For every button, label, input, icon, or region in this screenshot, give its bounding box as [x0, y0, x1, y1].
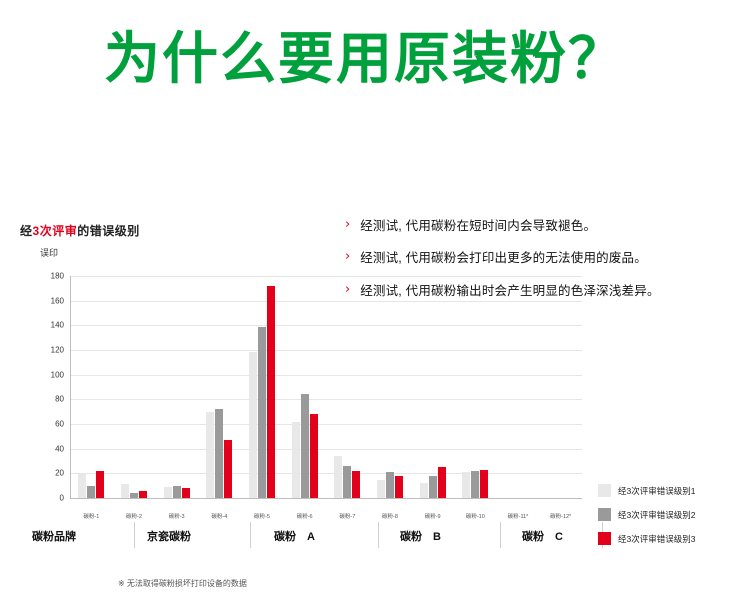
x-tick-label: 碳粉-1 [70, 512, 113, 520]
legend-item: 经3次评审错误级别3 [598, 532, 748, 545]
bar [249, 352, 257, 498]
chart-title-post: 的错误级别 [77, 224, 140, 238]
bullet-list: ›经测试, 代用碳粉在短时间内会导致褪色。›经测试, 代用碳粉会打印出更多的无法… [345, 218, 745, 315]
brand-separator [378, 522, 379, 548]
bar [480, 470, 488, 498]
brand-label: 碳粉 C [522, 528, 563, 544]
bar [87, 486, 95, 498]
bar [301, 394, 309, 498]
bar [139, 491, 147, 498]
bar [258, 327, 266, 498]
bullet-item: ›经测试, 代用碳粉会打印出更多的无法使用的废品。 [345, 250, 745, 266]
y-tick-label: 0 [60, 494, 64, 503]
brand-separator [250, 522, 251, 548]
bar [386, 472, 394, 498]
bullet-item: ›经测试, 代用碳粉在短时间内会导致褪色。 [345, 218, 745, 234]
y-tick-label: 120 [51, 346, 64, 355]
bar [173, 486, 181, 498]
y-tick-label: 40 [55, 444, 64, 453]
chart-title-accent: 3次评审 [33, 224, 78, 238]
bar-group: 碳粉-4 [198, 276, 241, 498]
bar [182, 488, 190, 498]
brand-label: 碳粉品牌 [32, 528, 76, 544]
x-tick-label: 碳粉-8 [369, 512, 412, 520]
chevron-right-icon: › [345, 218, 350, 231]
bar-group: 碳粉-1 [70, 276, 113, 498]
bar [78, 473, 86, 498]
x-tick-label: 碳粉-4 [198, 512, 241, 520]
brand-label: 碳粉 A [274, 528, 315, 544]
chart-legend: 经3次评审错误级别1经3次评审错误级别2经3次评审错误级别3 [598, 484, 748, 556]
bar [377, 480, 385, 499]
bar [395, 476, 403, 498]
chevron-right-icon: › [345, 283, 350, 296]
legend-label: 经3次评审错误级别3 [618, 533, 695, 545]
chart-title-pre: 经 [20, 224, 33, 238]
y-axis-label: 误印 [40, 246, 58, 259]
x-tick-label: 碳粉-7 [326, 512, 369, 520]
y-tick-label: 100 [51, 370, 64, 379]
brand-separator [500, 522, 501, 548]
legend-label: 经3次评审错误级别1 [618, 485, 695, 497]
bar [121, 484, 129, 498]
bullet-text: 经测试, 代用碳粉在短时间内会导致褪色。 [360, 218, 596, 234]
legend-label: 经3次评审错误级别2 [618, 509, 695, 521]
bullet-item: ›经测试, 代用碳粉输出时会产生明显的色泽深浅差异。 [345, 283, 745, 299]
brand-label: 京瓷碳粉 [147, 528, 191, 544]
bar-group: 碳粉-3 [155, 276, 198, 498]
x-tick-label: 碳粉-2 [113, 512, 156, 520]
brand-axis: 碳粉品牌京瓷碳粉碳粉 A碳粉 B碳粉 C [22, 528, 602, 558]
brand-separator [134, 522, 135, 548]
bar [438, 467, 446, 498]
y-tick-label: 160 [51, 296, 64, 305]
page-title: 为什么要用原装粉？ [104, 28, 626, 90]
y-tick-label: 60 [55, 420, 64, 429]
x-tick-label: 碳粉-5 [241, 512, 284, 520]
bar [420, 483, 428, 498]
x-tick-label: 碳粉-10 [454, 512, 497, 520]
x-tick-label: 碳粉-12* [539, 512, 582, 520]
x-tick-label: 碳粉-11* [497, 512, 540, 520]
bullet-text: 经测试, 代用碳粉会打印出更多的无法使用的废品。 [360, 250, 647, 266]
y-tick-label: 80 [55, 395, 64, 404]
x-tick-label: 碳粉-6 [283, 512, 326, 520]
chart-footnote: ※ 无法取得碳粉损坏打印设备的数据 [118, 578, 247, 589]
bar [343, 466, 351, 498]
bar [206, 412, 214, 498]
bar [310, 414, 318, 498]
bullet-text: 经测试, 代用碳粉输出时会产生明显的色泽深浅差异。 [360, 283, 659, 299]
chart-title: 经3次评审的错误级别 [20, 222, 140, 239]
bar [292, 422, 300, 498]
x-axis-line [70, 498, 582, 499]
legend-swatch [598, 484, 611, 497]
bar [164, 487, 172, 498]
bar [267, 286, 275, 498]
bar [224, 440, 232, 498]
bar [429, 476, 437, 498]
bar-group: 碳粉-2 [113, 276, 156, 498]
bar-group: 碳粉-5 [241, 276, 284, 498]
chevron-right-icon: › [345, 250, 350, 263]
bar [96, 471, 104, 498]
bar [471, 471, 479, 498]
bar-group: 碳粉-6 [283, 276, 326, 498]
legend-swatch [598, 532, 611, 545]
legend-item: 经3次评审错误级别1 [598, 484, 748, 497]
legend-swatch [598, 508, 611, 521]
bar [334, 456, 342, 498]
bar [130, 493, 138, 498]
y-tick-label: 20 [55, 469, 64, 478]
y-tick-label: 140 [51, 321, 64, 330]
legend-item: 经3次评审错误级别2 [598, 508, 748, 521]
x-tick-label: 碳粉-9 [411, 512, 454, 520]
x-tick-label: 碳粉-3 [155, 512, 198, 520]
brand-label: 碳粉 B [400, 528, 441, 544]
bar [352, 471, 360, 498]
bar [462, 472, 470, 498]
y-tick-label: 180 [51, 272, 64, 281]
bar [215, 409, 223, 498]
y-axis-ticks: 020406080100120140160180 [22, 268, 68, 490]
